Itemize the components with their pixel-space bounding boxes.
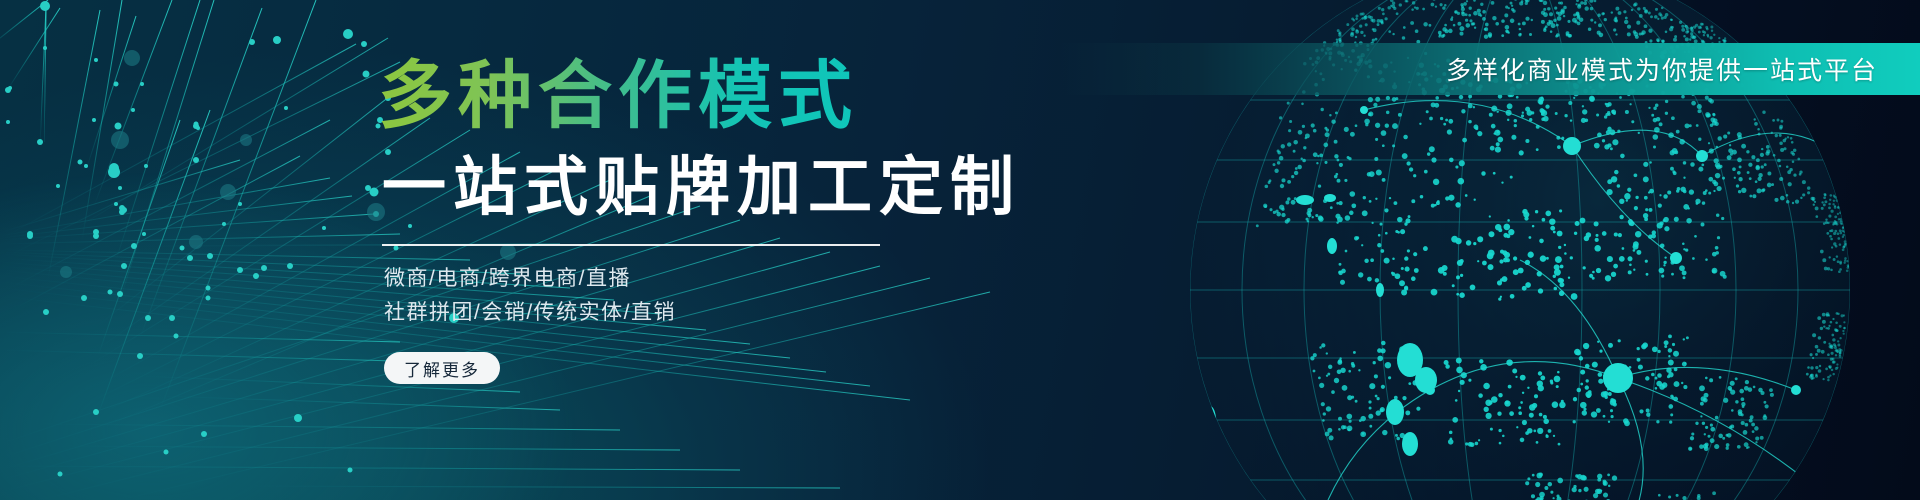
tagline-text: 多样化商业模式为你提供一站式平台 — [1446, 51, 1920, 87]
subtitle-line-2: 社群拼团/会销/传统实体/直销 — [384, 296, 1078, 330]
headline-divider — [382, 244, 880, 246]
headline-secondary: 一站式贴牌加工定制 — [382, 152, 1078, 222]
headline-primary: 多种合作模式 — [378, 56, 1078, 136]
banner-copy-block: 多种合作模式 一站式贴牌加工定制 微商/电商/跨界电商/直播 社群拼团/会销/传… — [378, 56, 1078, 384]
learn-more-button[interactable]: 了解更多 — [384, 352, 500, 384]
subtitle-line-1: 微商/电商/跨界电商/直播 — [384, 262, 1078, 296]
promo-banner: 多样化商业模式为你提供一站式平台 多种合作模式 一站式贴牌加工定制 微商/电商/… — [0, 0, 1920, 500]
tagline-bar: 多样化商业模式为你提供一站式平台 — [1060, 43, 1920, 95]
